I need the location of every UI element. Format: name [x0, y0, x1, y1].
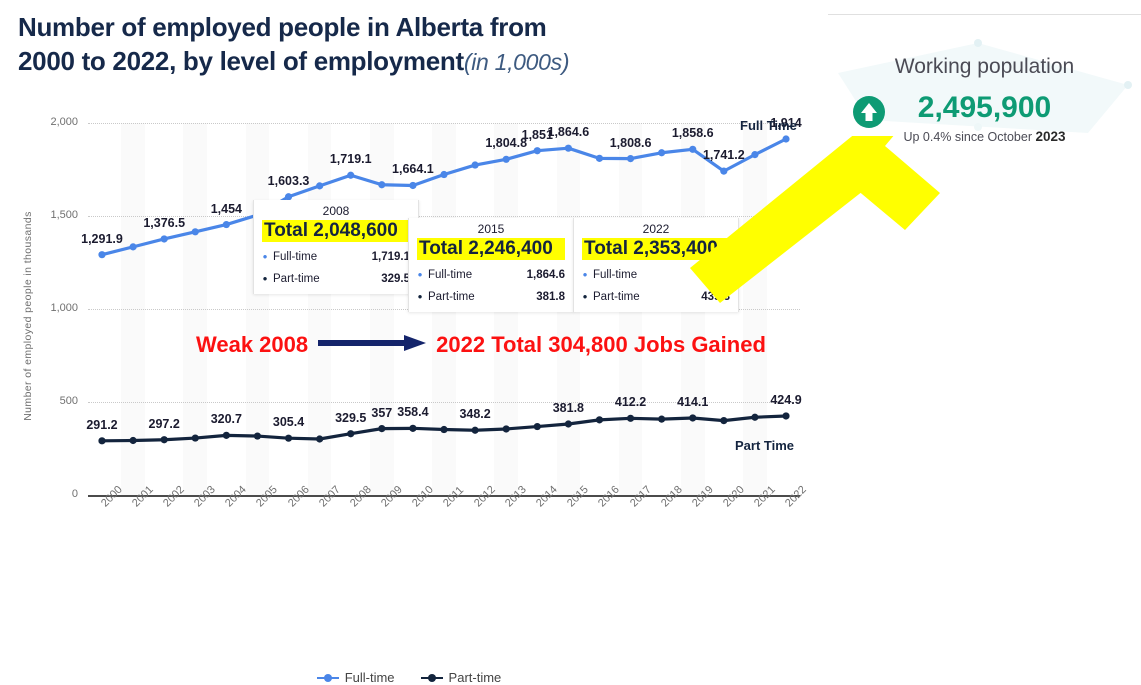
data-point-label: 412.2 [615, 395, 646, 409]
data-point[interactable] [409, 425, 416, 432]
data-point[interactable] [565, 145, 572, 152]
tooltip-row-full-time: • Full-time 1,719.1 [262, 249, 410, 264]
data-point[interactable] [782, 135, 789, 142]
tooltip-row-label: Part-time [273, 273, 381, 285]
tooltip-card-2022[interactable]: 2022 Total 2,353,400 • Full-time 1,914 •… [573, 218, 739, 312]
data-point-label: 348.2 [459, 407, 490, 421]
x-axis-ticks: 2000200120022003200420052006200720082009… [88, 501, 800, 561]
legend-label: Full-time [345, 670, 395, 685]
tooltip-row-full-time: • Full-time 1,864.6 [417, 267, 565, 282]
data-point-label: 1,291.9 [81, 232, 123, 246]
working-population-title: Working population [828, 55, 1141, 79]
data-point[interactable] [751, 151, 758, 158]
tooltip-card-2015[interactable]: 2015 Total 2,246,400 • Full-time 1,864.6… [408, 218, 574, 312]
tooltip-row-value: 439.3 [701, 291, 730, 303]
legend-item-part-time[interactable]: Part-time [421, 670, 502, 685]
data-point-label: 1,858.6 [672, 126, 714, 140]
data-point[interactable] [192, 434, 199, 441]
data-point-label: 320.7 [211, 412, 242, 426]
working-population-sub-prefix: Up 0.4% since October [903, 130, 1035, 144]
tooltip-row-value: 1,864.6 [527, 269, 565, 281]
page-title: Number of employed people in Alberta fro… [18, 10, 778, 79]
title-line-1: Number of employed people in Alberta fro… [18, 12, 546, 42]
tooltip-row-part-time: • Part-time 381.8 [417, 289, 565, 304]
data-point[interactable] [503, 156, 510, 163]
data-point[interactable] [440, 171, 447, 178]
data-point-label: 1,454 [211, 202, 242, 216]
data-point[interactable] [689, 414, 696, 421]
tooltip-row-value: 381.8 [536, 291, 565, 303]
data-point[interactable] [471, 161, 478, 168]
tooltip-total: Total 2,246,400 [417, 238, 565, 260]
data-point[interactable] [378, 181, 385, 188]
data-point[interactable] [192, 228, 199, 235]
data-point[interactable] [440, 426, 447, 433]
y-axis-tick-label: 500 [32, 395, 78, 407]
tooltip-row-value: 1,719.1 [372, 251, 410, 263]
data-point[interactable] [254, 432, 261, 439]
red-annotation-right: 2022 Total 304,800 Jobs Gained [436, 332, 766, 358]
right-arrow-icon [318, 332, 426, 358]
y-axis-tick-label: 0 [32, 488, 78, 500]
red-annotation-left: Weak 2008 [196, 332, 308, 358]
data-point[interactable] [534, 147, 541, 154]
data-point[interactable] [409, 182, 416, 189]
bullet-icon: • [582, 289, 588, 304]
full-time-end-label: Full Time [740, 118, 797, 133]
y-axis-ticks: 05001,0001,5002,000 [32, 123, 78, 495]
data-point-label: 291.2 [86, 418, 117, 432]
tooltip-row-value: 329.5 [381, 273, 410, 285]
tooltip-row-label: Full-time [428, 269, 527, 281]
data-point-label: 1,808.6 [610, 136, 652, 150]
data-point[interactable] [534, 423, 541, 430]
tooltip-row-part-time: • Part-time 329.5 [262, 271, 410, 286]
data-point[interactable] [503, 425, 510, 432]
tooltip-row-label: Part-time [593, 291, 701, 303]
y-axis-tick-label: 2,000 [32, 116, 78, 128]
tooltip-year: 2008 [262, 204, 410, 218]
data-point-label: 1,741.2 [703, 148, 745, 162]
bullet-icon: • [417, 267, 423, 282]
chart-legend: Full-time Part-time [0, 670, 818, 685]
tooltip-row-label: Full-time [593, 269, 701, 281]
tooltip-year: 2015 [417, 222, 565, 236]
data-point[interactable] [378, 425, 385, 432]
part-time-end-label: Part Time [735, 438, 794, 453]
y-axis-tick-label: 1,000 [32, 302, 78, 314]
data-point[interactable] [129, 437, 136, 444]
data-point-label: 305.4 [273, 415, 304, 429]
data-point[interactable] [689, 146, 696, 153]
legend-marker-full-time [317, 674, 339, 682]
data-point[interactable] [161, 235, 168, 242]
data-point-label: 414.1 [677, 395, 708, 409]
title-subtitle: (in 1,000s) [464, 49, 569, 75]
title-line-2: 2000 to 2022, by level of employment [18, 46, 464, 76]
data-point-label: 1,376.5 [143, 216, 185, 230]
working-population-value: 2,495,900 [828, 91, 1141, 125]
data-point[interactable] [720, 168, 727, 175]
data-point[interactable] [285, 435, 292, 442]
tooltip-row-part-time: • Part-time 439.3 [582, 289, 730, 304]
data-point-label: 297.2 [149, 417, 180, 431]
right-column: Working population 2,495,900 Up 0.4% sin… [818, 0, 1141, 644]
data-point-label: 329.5 [335, 411, 366, 425]
red-annotation: Weak 2008 2022 Total 304,800 Jobs Gained [196, 332, 766, 358]
tooltip-row-value: 1,914 [701, 269, 730, 281]
data-point-label: 1,719.1 [330, 152, 372, 166]
data-point[interactable] [223, 432, 230, 439]
data-point[interactable] [565, 420, 572, 427]
data-point[interactable] [658, 149, 665, 156]
data-point[interactable] [658, 416, 665, 423]
y-axis-tick-label: 1,500 [32, 209, 78, 221]
data-point[interactable] [627, 415, 634, 422]
tooltip-row-full-time: • Full-time 1,914 [582, 267, 730, 282]
bullet-icon: • [417, 289, 423, 304]
bullet-icon: • [262, 249, 268, 264]
data-point-label: 1,664.1 [392, 162, 434, 176]
data-point-label: 381.8 [553, 401, 584, 415]
data-point-label: 358.4 [397, 405, 428, 419]
working-population-sub-year: 2023 [1035, 129, 1065, 144]
legend-marker-part-time [421, 674, 443, 682]
tooltip-row-label: Part-time [428, 291, 536, 303]
data-point[interactable] [98, 251, 105, 258]
data-point[interactable] [782, 412, 789, 419]
data-point[interactable] [596, 416, 603, 423]
tooltip-row-label: Full-time [273, 251, 372, 263]
data-point[interactable] [751, 414, 758, 421]
data-point-label: 357 [371, 406, 392, 420]
legend-label: Part-time [449, 670, 502, 685]
data-point-label: 1,864.6 [548, 125, 590, 139]
tooltip-total: Total 2,353,400 [582, 238, 730, 260]
tooltip-total: Total 2,048,600 [262, 220, 410, 242]
data-point[interactable] [98, 437, 105, 444]
data-point[interactable] [720, 417, 727, 424]
data-point[interactable] [316, 435, 323, 442]
data-point[interactable] [316, 182, 323, 189]
bullet-icon: • [262, 271, 268, 286]
working-population-subtext: Up 0.4% since October 2023 [828, 129, 1141, 144]
data-point[interactable] [596, 155, 603, 162]
data-point[interactable] [161, 436, 168, 443]
data-point-label: 424.9 [770, 393, 801, 407]
bullet-icon: • [582, 267, 588, 282]
tooltip-card-2008[interactable]: 2008 Total 2,048,600 • Full-time 1,719.1… [253, 200, 419, 294]
tooltip-year: 2022 [582, 222, 730, 236]
working-population-card: Working population 2,495,900 Up 0.4% sin… [828, 14, 1141, 136]
data-point[interactable] [347, 172, 354, 179]
data-point[interactable] [223, 221, 230, 228]
data-point[interactable] [347, 430, 354, 437]
data-point[interactable] [129, 243, 136, 250]
data-point[interactable] [471, 427, 478, 434]
data-point-label: 1,603.3 [268, 174, 310, 188]
data-point[interactable] [627, 155, 634, 162]
legend-item-full-time[interactable]: Full-time [317, 670, 395, 685]
